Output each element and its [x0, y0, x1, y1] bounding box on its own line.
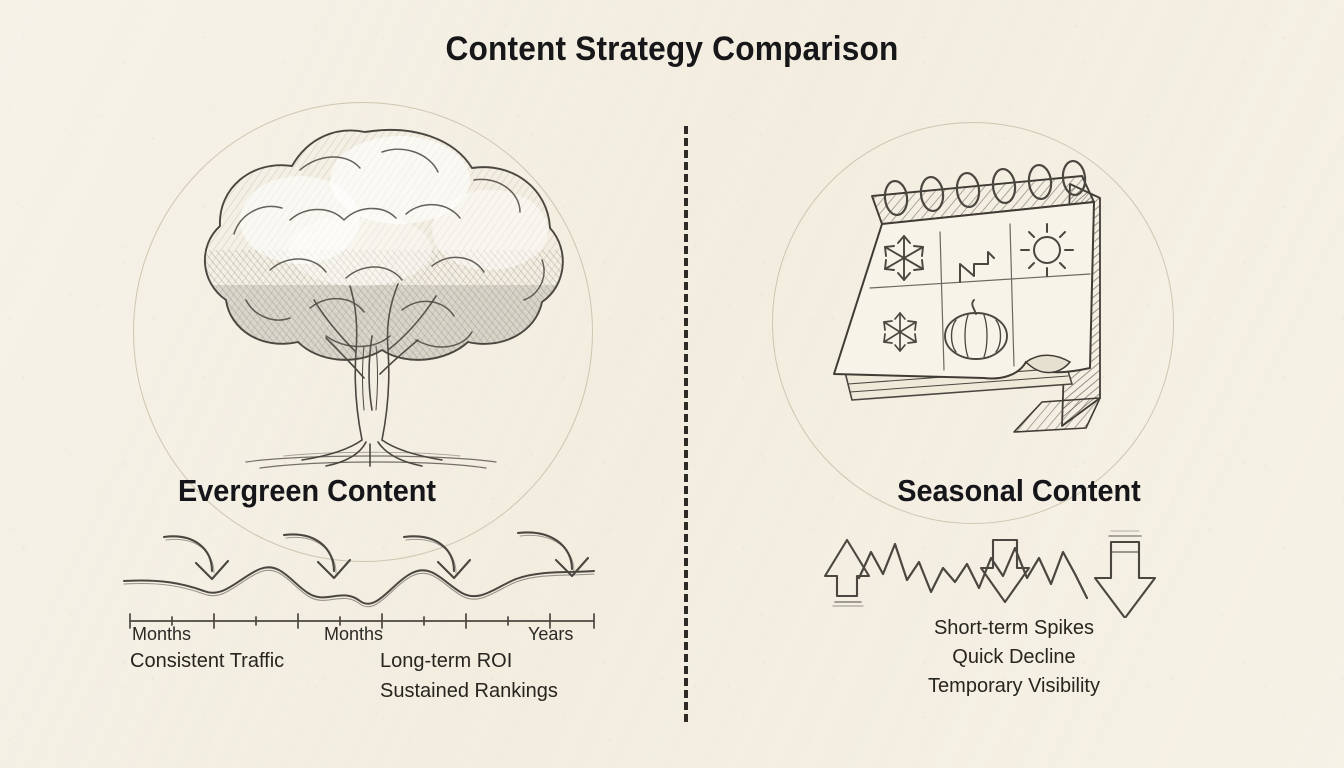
- heading-evergreen: Evergreen Content: [0, 473, 625, 509]
- block-down-arrow-icon: [1095, 531, 1155, 618]
- axis-tick-label: Months: [132, 624, 191, 645]
- list-item: Short-term Spikes: [684, 614, 1344, 643]
- list-item: Consistent Traffic: [130, 650, 284, 673]
- panel-seasonal: Seasonal Content Short-term Spikes Quick…: [684, 0, 1344, 768]
- tree-icon: [150, 110, 580, 470]
- heading-seasonal: Seasonal Content: [712, 473, 1326, 509]
- panel-evergreen: Evergreen Content: [0, 0, 684, 768]
- axis-tick-label: Months: [324, 624, 383, 645]
- list-item: Temporary Visibility: [684, 672, 1344, 701]
- list-item: Sustained Rankings: [380, 680, 558, 703]
- desk-calendar-icon: [804, 140, 1144, 450]
- axis-tick-label: Years: [528, 624, 573, 645]
- wavy-steady-line-icon: [120, 521, 600, 621]
- seasonal-trait-list: Short-term Spikes Quick Decline Temporar…: [684, 614, 1344, 701]
- list-item: Quick Decline: [684, 643, 1344, 672]
- list-item: Long-term ROI: [380, 650, 512, 673]
- jagged-spike-line-icon: [819, 518, 1189, 618]
